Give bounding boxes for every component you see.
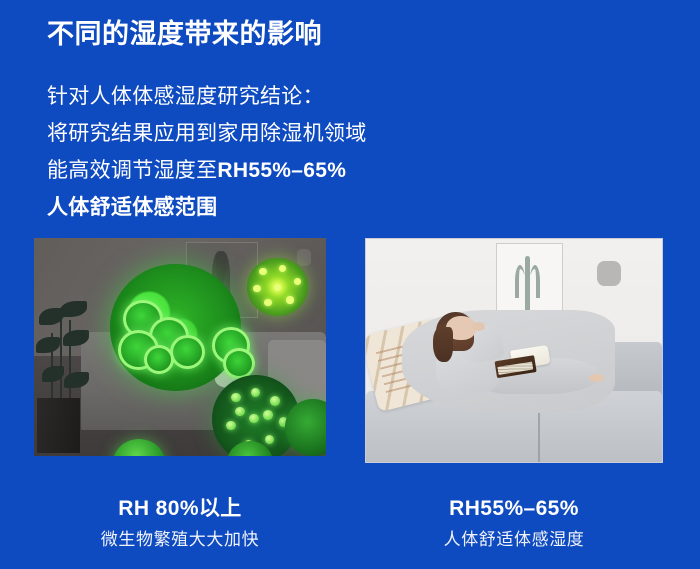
- hair-strand: [433, 327, 452, 362]
- caption-row: RH 80%以上 微生物繁殖大大加快 RH55%–65% 人体舒适体感湿度: [0, 495, 700, 569]
- potted-plant-icon: [34, 295, 110, 456]
- photo-comparison-row: [0, 238, 700, 464]
- caption-comfort-humidity: RH55%–65% 人体舒适体感湿度: [365, 495, 663, 551]
- planter: [37, 398, 80, 453]
- dark-room-scene: [34, 238, 326, 456]
- wall-speaker-icon: [597, 261, 621, 286]
- body-line-3: 能高效调节湿度至RH55%–65%: [47, 152, 367, 189]
- body-line-3-prefix: 能高效调节湿度至: [47, 159, 217, 182]
- body-line-1: 针对人体体感湿度研究结论：: [47, 78, 367, 115]
- bright-room-scene: [366, 239, 662, 462]
- page-title: 不同的湿度带来的影响: [47, 17, 322, 51]
- caption-subtitle: 微生物繁殖大大加快: [34, 528, 326, 551]
- caption-high-humidity: RH 80%以上 微生物繁殖大大加快: [34, 495, 326, 551]
- hand-on-forehead: [472, 322, 485, 331]
- humidity-infographic-poster: 不同的湿度带来的影响 针对人体体感湿度研究结论： 将研究结果应用到家用除湿机领域…: [0, 0, 700, 569]
- body-copy-block: 针对人体体感湿度研究结论： 将研究结果应用到家用除湿机领域 能高效调节湿度至RH…: [47, 78, 367, 226]
- foot: [589, 374, 604, 382]
- photo-comfort-humidity: [365, 238, 663, 463]
- caption-title: RH 80%以上: [34, 495, 326, 523]
- photo-high-humidity: [34, 238, 326, 456]
- body-line-3-emphasis: RH55%–65%: [217, 159, 346, 182]
- woman-figure: [402, 310, 615, 413]
- body-line-4: 人体舒适体感范围: [47, 189, 367, 226]
- caption-title: RH55%–65%: [365, 495, 663, 523]
- body-line-2: 将研究结果应用到家用除湿机领域: [47, 115, 367, 152]
- caption-subtitle: 人体舒适体感湿度: [365, 528, 663, 551]
- germ-sphere-large-icon: [110, 264, 241, 390]
- wall-speaker-icon: [297, 249, 311, 266]
